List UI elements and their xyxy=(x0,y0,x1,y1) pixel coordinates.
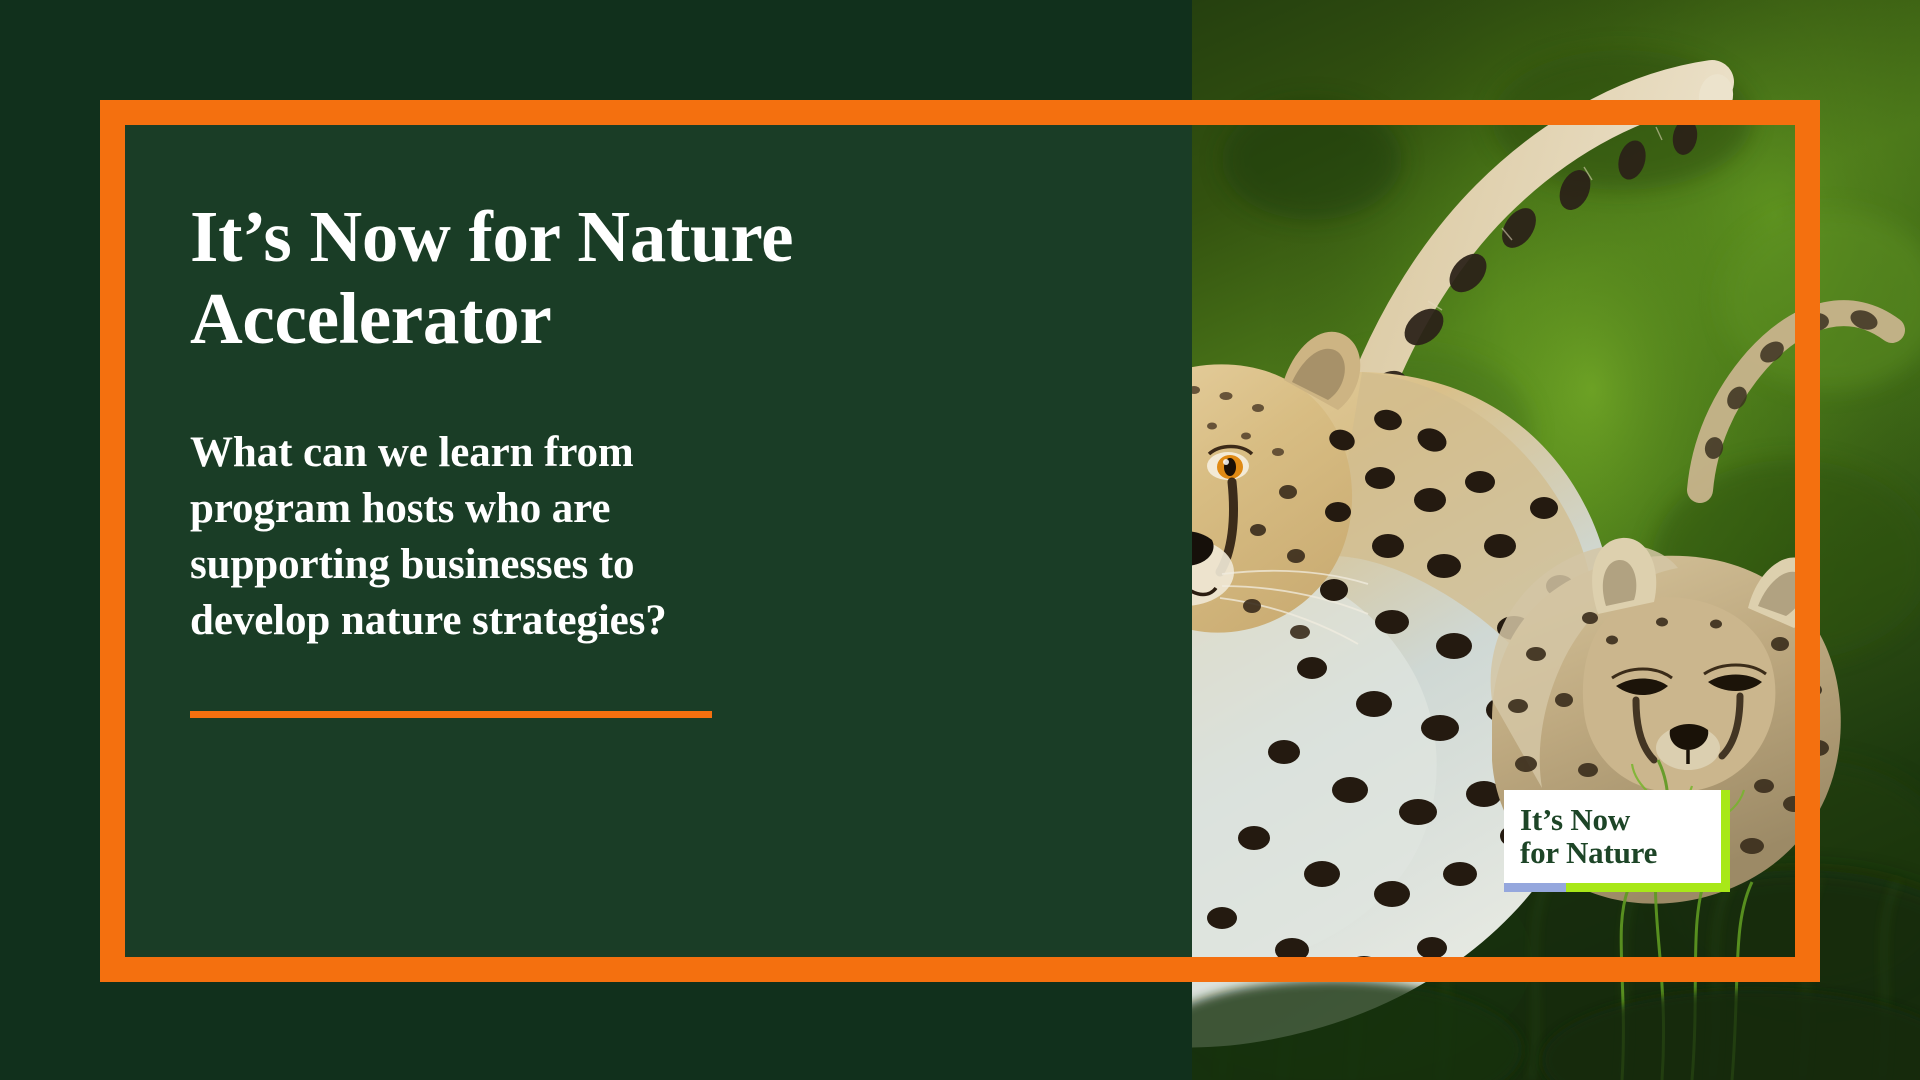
logo-accent-bottom-blue-segment xyxy=(1504,883,1566,892)
slide-subtitle: What can we learn from program hosts who… xyxy=(190,425,830,649)
orange-divider-rule xyxy=(190,711,712,718)
slide-text-block: It’s Now for Nature Accelerator What can… xyxy=(190,196,980,718)
its-now-for-nature-logo[interactable]: It’s Now for Nature xyxy=(1504,790,1730,892)
presentation-slide: It’s Now for Nature Accelerator What can… xyxy=(0,0,1920,1080)
logo-white-box: It’s Now for Nature xyxy=(1504,790,1721,883)
page-title: It’s Now for Nature Accelerator xyxy=(190,196,980,361)
logo-accent-right-bar xyxy=(1721,790,1730,892)
logo-line-1: It’s Now xyxy=(1520,804,1721,836)
logo-line-2: for Nature xyxy=(1520,837,1721,869)
